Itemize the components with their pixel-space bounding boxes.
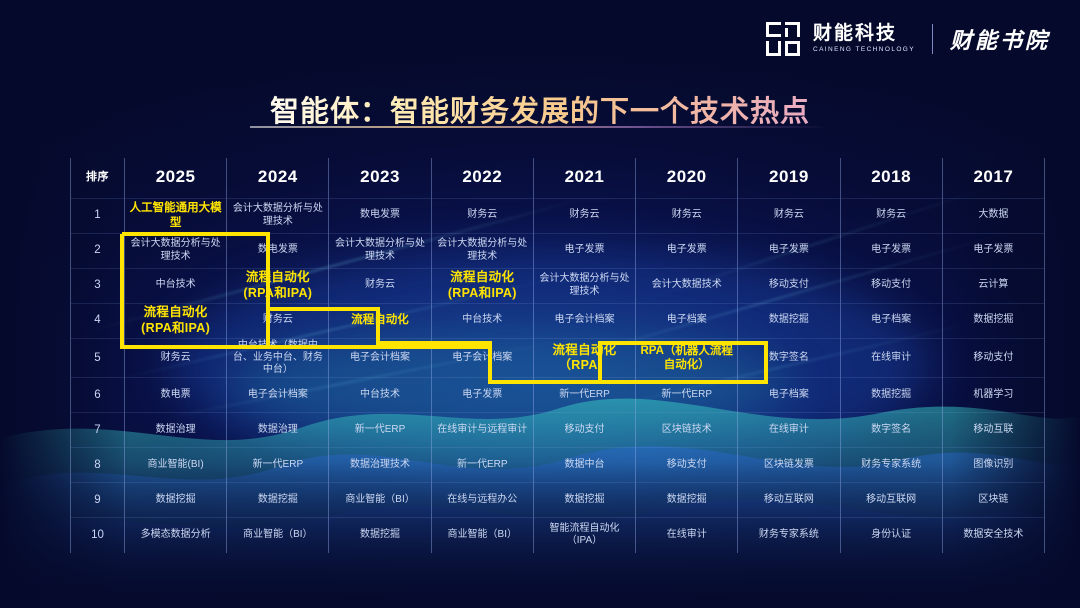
cell-2018-rank2: 电子发票	[840, 233, 942, 268]
cell-2022-rank4: 中台技术	[431, 303, 533, 338]
brand-company-cn: 财能科技	[813, 24, 915, 43]
rank-cell: 7	[71, 413, 125, 448]
cell-2023-rank10: 数据挖掘	[329, 518, 431, 553]
col-header-2024: 2024	[227, 158, 329, 198]
cell-2018-rank10: 身份认证	[840, 518, 942, 553]
col-header-2023: 2023	[329, 158, 431, 198]
cell-2021-rank2: 电子发票	[533, 233, 635, 268]
cell-2025-rank3: 中台技术	[125, 268, 227, 303]
rank-cell: 4	[71, 303, 125, 338]
table-body: 1人工智能通用大模型会计大数据分析与处理技术数电发票财务云财务云财务云财务云财务…	[71, 198, 1045, 553]
table-row: 6数电票电子会计档案中台技术电子发票新一代ERP新一代ERP电子档案数据挖掘机器…	[71, 378, 1045, 413]
cell-2024-rank2: 数电发票	[227, 233, 329, 268]
cell-2025-rank9: 数据挖掘	[125, 483, 227, 518]
cell-2018-rank7: 数字签名	[840, 413, 942, 448]
col-header-2021: 2021	[533, 158, 635, 198]
cell-2019-rank7: 在线审计	[738, 413, 840, 448]
cell-2023-rank9: 商业智能（BI）	[329, 483, 431, 518]
brand-company-block: 财能科技 CAINENG TECHNOLOGY	[813, 24, 915, 54]
cell-2018-rank3: 移动支付	[840, 268, 942, 303]
table-row: 2会计大数据分析与处理技术数电发票会计大数据分析与处理技术会计大数据分析与处理技…	[71, 233, 1045, 268]
table-row: 10多模态数据分析商业智能（BI）数据挖掘商业智能（BI）智能流程自动化（IPA…	[71, 518, 1045, 553]
col-header-2022: 2022	[431, 158, 533, 198]
cell-2021-rank8: 数据中台	[533, 448, 635, 483]
cell-2017-rank4: 数据挖掘	[942, 303, 1044, 338]
cell-2017-rank6: 机器学习	[942, 378, 1044, 413]
cell-2017-rank2: 电子发票	[942, 233, 1044, 268]
cell-2021-rank1: 财务云	[533, 198, 635, 233]
technology-ranking-table-wrap: 排序 2025 2024 2023 2022 2021 2020 2019 20…	[70, 158, 1045, 548]
cell-2020-rank6: 新一代ERP	[636, 378, 738, 413]
table-row: 1人工智能通用大模型会计大数据分析与处理技术数电发票财务云财务云财务云财务云财务…	[71, 198, 1045, 233]
cell-2023-rank3: 财务云	[329, 268, 431, 303]
cell-2019-rank2: 电子发票	[738, 233, 840, 268]
cell-2018-rank9: 移动互联网	[840, 483, 942, 518]
cell-2025-rank7: 数据治理	[125, 413, 227, 448]
cell-2023-rank2: 会计大数据分析与处理技术	[329, 233, 431, 268]
cell-2020-rank3: 会计大数据技术	[636, 268, 738, 303]
cell-2023-rank8: 数据治理技术	[329, 448, 431, 483]
table-row: 3中台技术流程自动化(RPA和IPA)财务云流程自动化(RPA和IPA)会计大数…	[71, 268, 1045, 303]
brand-company-en: CAINENG TECHNOLOGY	[813, 47, 915, 54]
brand-sub-brand: 财能书院	[950, 23, 1050, 55]
cell-2021-rank6: 新一代ERP	[533, 378, 635, 413]
rank-cell: 8	[71, 448, 125, 483]
col-header-2019: 2019	[738, 158, 840, 198]
cell-2017-rank10: 数据安全技术	[942, 518, 1044, 553]
cell-2022-rank2: 会计大数据分析与处理技术	[431, 233, 533, 268]
cell-2024-rank6: 电子会计档案	[227, 378, 329, 413]
col-header-2025: 2025	[125, 158, 227, 198]
cell-2022-rank3: 流程自动化(RPA和IPA)	[431, 268, 533, 303]
cell-2019-rank9: 移动互联网	[738, 483, 840, 518]
cell-2018-rank8: 财务专家系统	[840, 448, 942, 483]
cell-2024-rank5: 中台技术（数据中台、业务中台、财务中台）	[227, 338, 329, 378]
cell-2022-rank7: 在线审计与远程审计	[431, 413, 533, 448]
cell-2023-rank6: 中台技术	[329, 378, 431, 413]
cell-2023-rank7: 新一代ERP	[329, 413, 431, 448]
cell-2025-rank4: 流程自动化(RPA和IPA)	[125, 303, 227, 338]
technology-ranking-table: 排序 2025 2024 2023 2022 2021 2020 2019 20…	[70, 158, 1045, 553]
rank-cell: 2	[71, 233, 125, 268]
cell-2021-rank10: 智能流程自动化（IPA）	[533, 518, 635, 553]
col-header-2020: 2020	[636, 158, 738, 198]
cell-2020-rank2: 电子发票	[636, 233, 738, 268]
cell-2017-rank3: 云计算	[942, 268, 1044, 303]
cell-2025-rank1: 人工智能通用大模型	[125, 198, 227, 233]
cell-2022-rank8: 新一代ERP	[431, 448, 533, 483]
cell-2023-rank4: 流程自动化	[329, 303, 431, 338]
table-row: 4流程自动化(RPA和IPA)财务云流程自动化中台技术电子会计档案电子档案数据挖…	[71, 303, 1045, 338]
cell-2019-rank6: 电子档案	[738, 378, 840, 413]
cell-2017-rank5: 移动支付	[942, 338, 1044, 378]
cell-2020-rank9: 数据挖掘	[636, 483, 738, 518]
cell-2020-rank1: 财务云	[636, 198, 738, 233]
cell-2022-rank9: 在线与远程办公	[431, 483, 533, 518]
cell-2025-rank8: 商业智能(BI)	[125, 448, 227, 483]
cn-monogram-logo-icon	[766, 22, 800, 56]
cell-2022-rank1: 财务云	[431, 198, 533, 233]
rank-cell: 6	[71, 378, 125, 413]
cell-2017-rank1: 大数据	[942, 198, 1044, 233]
cell-2021-rank5: 流程自动化（RPA）	[533, 338, 635, 378]
cell-2020-rank8: 移动支付	[636, 448, 738, 483]
page-title: 智能体：智能财务发展的下一个技术热点	[0, 88, 1080, 130]
col-header-2018: 2018	[840, 158, 942, 198]
cell-2021-rank4: 电子会计档案	[533, 303, 635, 338]
cell-2019-rank5: 数字签名	[738, 338, 840, 378]
rank-cell: 1	[71, 198, 125, 233]
cell-2020-rank10: 在线审计	[636, 518, 738, 553]
cell-2020-rank4: 电子档案	[636, 303, 738, 338]
rank-cell: 3	[71, 268, 125, 303]
cell-2022-rank10: 商业智能（BI）	[431, 518, 533, 553]
brand-divider	[932, 24, 933, 54]
cell-2024-rank3: 流程自动化(RPA和IPA)	[227, 268, 329, 303]
cell-2022-rank5: 电子会计档案	[431, 338, 533, 378]
cell-2019-rank4: 数据挖掘	[738, 303, 840, 338]
cell-2024-rank4: 财务云	[227, 303, 329, 338]
cell-2024-rank8: 新一代ERP	[227, 448, 329, 483]
cell-2024-rank1: 会计大数据分析与处理技术	[227, 198, 329, 233]
cell-2024-rank9: 数据挖掘	[227, 483, 329, 518]
brand-logo: 财能科技 CAINENG TECHNOLOGY 财能书院	[766, 22, 1050, 56]
cell-2025-rank6: 数电票	[125, 378, 227, 413]
cell-2023-rank1: 数电发票	[329, 198, 431, 233]
cell-2020-rank5: RPA（机器人流程自动化）	[636, 338, 738, 378]
table-header-row: 排序 2025 2024 2023 2022 2021 2020 2019 20…	[71, 158, 1045, 198]
cell-2017-rank9: 区块链	[942, 483, 1044, 518]
cell-2024-rank7: 数据治理	[227, 413, 329, 448]
table-row: 9数据挖掘数据挖掘商业智能（BI）在线与远程办公数据挖掘数据挖掘移动互联网移动互…	[71, 483, 1045, 518]
cell-2024-rank10: 商业智能（BI）	[227, 518, 329, 553]
cell-2019-rank1: 财务云	[738, 198, 840, 233]
rank-cell: 10	[71, 518, 125, 553]
col-header-rank: 排序	[71, 158, 125, 198]
table-row: 8商业智能(BI)新一代ERP数据治理技术新一代ERP数据中台移动支付区块链发票…	[71, 448, 1045, 483]
rank-cell: 5	[71, 338, 125, 378]
cell-2019-rank3: 移动支付	[738, 268, 840, 303]
cell-2025-rank2: 会计大数据分析与处理技术	[125, 233, 227, 268]
cell-2020-rank7: 区块链技术	[636, 413, 738, 448]
cell-2025-rank5: 财务云	[125, 338, 227, 378]
cell-2021-rank7: 移动支付	[533, 413, 635, 448]
cell-2017-rank8: 图像识别	[942, 448, 1044, 483]
cell-2018-rank5: 在线审计	[840, 338, 942, 378]
rank-cell: 9	[71, 483, 125, 518]
cell-2021-rank9: 数据挖掘	[533, 483, 635, 518]
cell-2021-rank3: 会计大数据分析与处理技术	[533, 268, 635, 303]
title-underline	[250, 126, 830, 128]
cell-2025-rank10: 多模态数据分析	[125, 518, 227, 553]
cell-2023-rank5: 电子会计档案	[329, 338, 431, 378]
table-row: 5财务云中台技术（数据中台、业务中台、财务中台）电子会计档案电子会计档案流程自动…	[71, 338, 1045, 378]
col-header-2017: 2017	[942, 158, 1044, 198]
cell-2018-rank1: 财务云	[840, 198, 942, 233]
cell-2022-rank6: 电子发票	[431, 378, 533, 413]
cell-2019-rank10: 财务专家系统	[738, 518, 840, 553]
cell-2019-rank8: 区块链发票	[738, 448, 840, 483]
table-row: 7数据治理数据治理新一代ERP在线审计与远程审计移动支付区块链技术在线审计数字签…	[71, 413, 1045, 448]
cell-2018-rank4: 电子档案	[840, 303, 942, 338]
cell-2018-rank6: 数据挖掘	[840, 378, 942, 413]
cell-2017-rank7: 移动互联	[942, 413, 1044, 448]
